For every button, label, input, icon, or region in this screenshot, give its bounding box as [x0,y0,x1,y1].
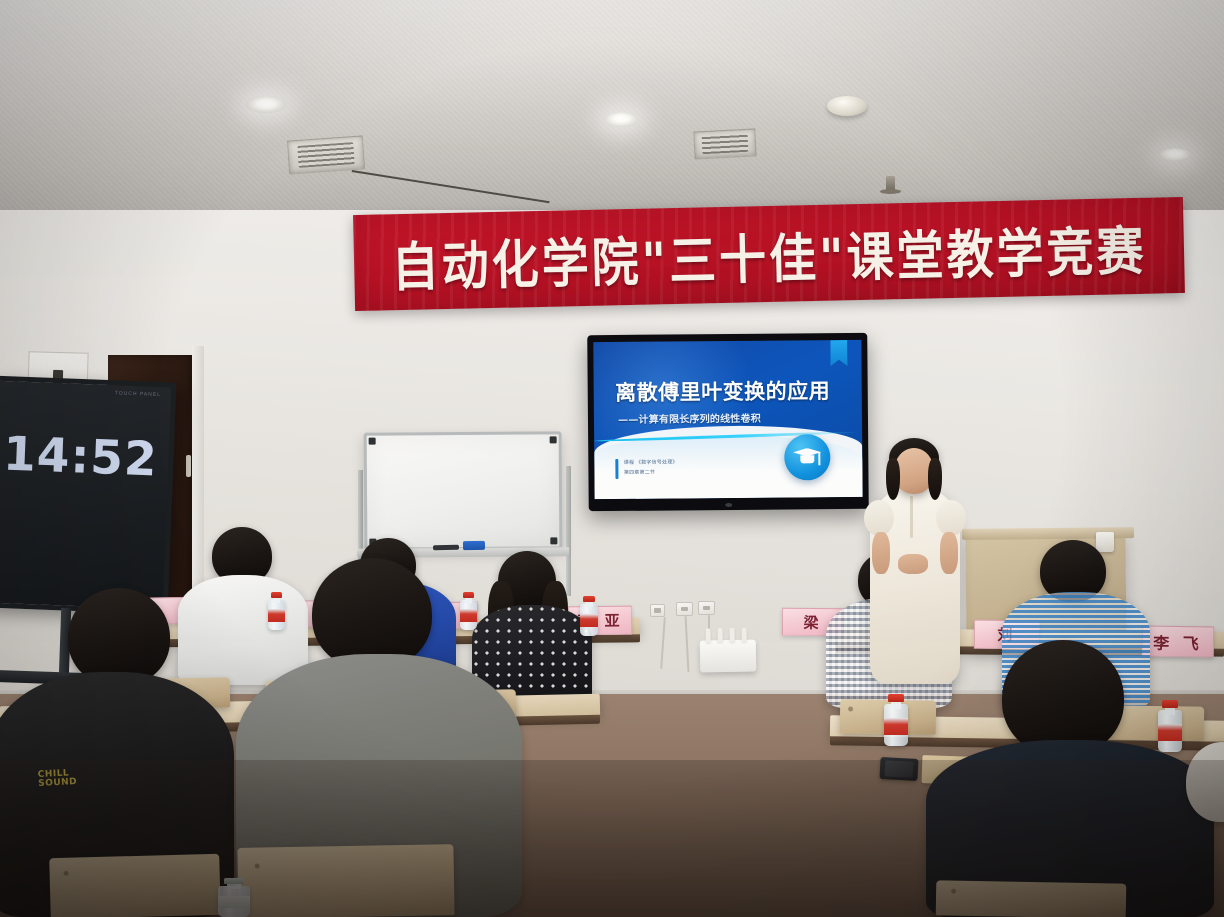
whiteboard-corner [369,438,376,445]
display-brand-label: TOUCH PANEL [115,390,161,398]
whiteboard [364,431,563,550]
slide-footer-bar [616,459,619,479]
downlight-icon [604,112,638,127]
lanyard [910,496,913,538]
whiteboard-corner [550,436,557,443]
downlight-icon [246,96,286,113]
classroom-photo: 自动化学院"三十佳"课堂教学竞赛 TOUCH PANEL 14:52 离散傅里叶… [0,0,1224,917]
water-bottle [268,592,285,630]
presenter-arm-right [940,532,958,574]
sprinkler-head-icon [886,176,895,192]
water-bottle [1158,700,1182,752]
graduation-cap-icon [784,434,830,480]
wall-display-clock[interactable]: TOUCH PANEL 14:52 [0,376,176,615]
bookmark-icon [830,340,847,366]
door-handle[interactable] [186,455,191,477]
presenter-hair-side [886,458,900,500]
paper-cup-icon [1096,532,1114,552]
placard-name: 李 飞 [1153,629,1203,654]
whiteboard-marker-icon[interactable] [433,545,459,550]
slide-subtitle: ——计算有限长序列的线性卷积 [618,410,761,426]
slide-footer: 课程 《数字信号处理》 第四章第二节 [616,458,678,479]
presenter-sleeve-left [864,500,894,536]
clock-time: 14:52 [2,427,159,488]
presenter-hand [898,554,928,574]
air-vent-icon [693,128,756,159]
downlight-icon [1160,148,1190,161]
display-indicator [725,503,732,507]
slide-title: 离散傅里叶变换的应用 [615,375,830,407]
event-banner: 自动化学院"三十佳"课堂教学竞赛 [353,197,1185,311]
slide-content: 离散傅里叶变换的应用 ——计算有限长序列的线性卷积 课程 《数字信号处理》 第四… [593,340,862,499]
presenter-hair-side [928,458,942,500]
presenter-arm-left [872,532,890,574]
water-bottle [580,596,598,636]
name-placard-lifei: 李 飞 [1142,625,1214,657]
water-bottle [884,694,908,746]
presenter-sleeve-right [936,500,966,536]
wall-outlet[interactable] [676,602,693,616]
head [1002,640,1124,756]
whiteboard-eraser-icon[interactable] [463,541,485,550]
whiteboard-stand-right [566,466,571,596]
power-strip[interactable] [700,640,757,673]
slide-footer-line-2: 第四章第二节 [624,468,678,475]
smoke-detector-icon [827,96,867,116]
floor-shadow [0,760,1224,917]
slide-footer-line-1: 课程 《数字信号处理》 [624,458,678,465]
wall-outlet[interactable] [650,604,665,617]
air-vent-icon [287,135,365,174]
water-bottle [460,592,477,630]
presentation-display[interactable]: 离散傅里叶变换的应用 ——计算有限长序列的线性卷积 课程 《数字信号处理》 第四… [587,333,869,511]
placard-name: 梁 [803,611,822,632]
wall-outlet[interactable] [698,601,715,615]
whiteboard-corner [550,537,557,544]
torso [178,575,308,685]
banner-text: 自动化学院"三十佳"课堂教学竞赛 [391,207,1147,301]
